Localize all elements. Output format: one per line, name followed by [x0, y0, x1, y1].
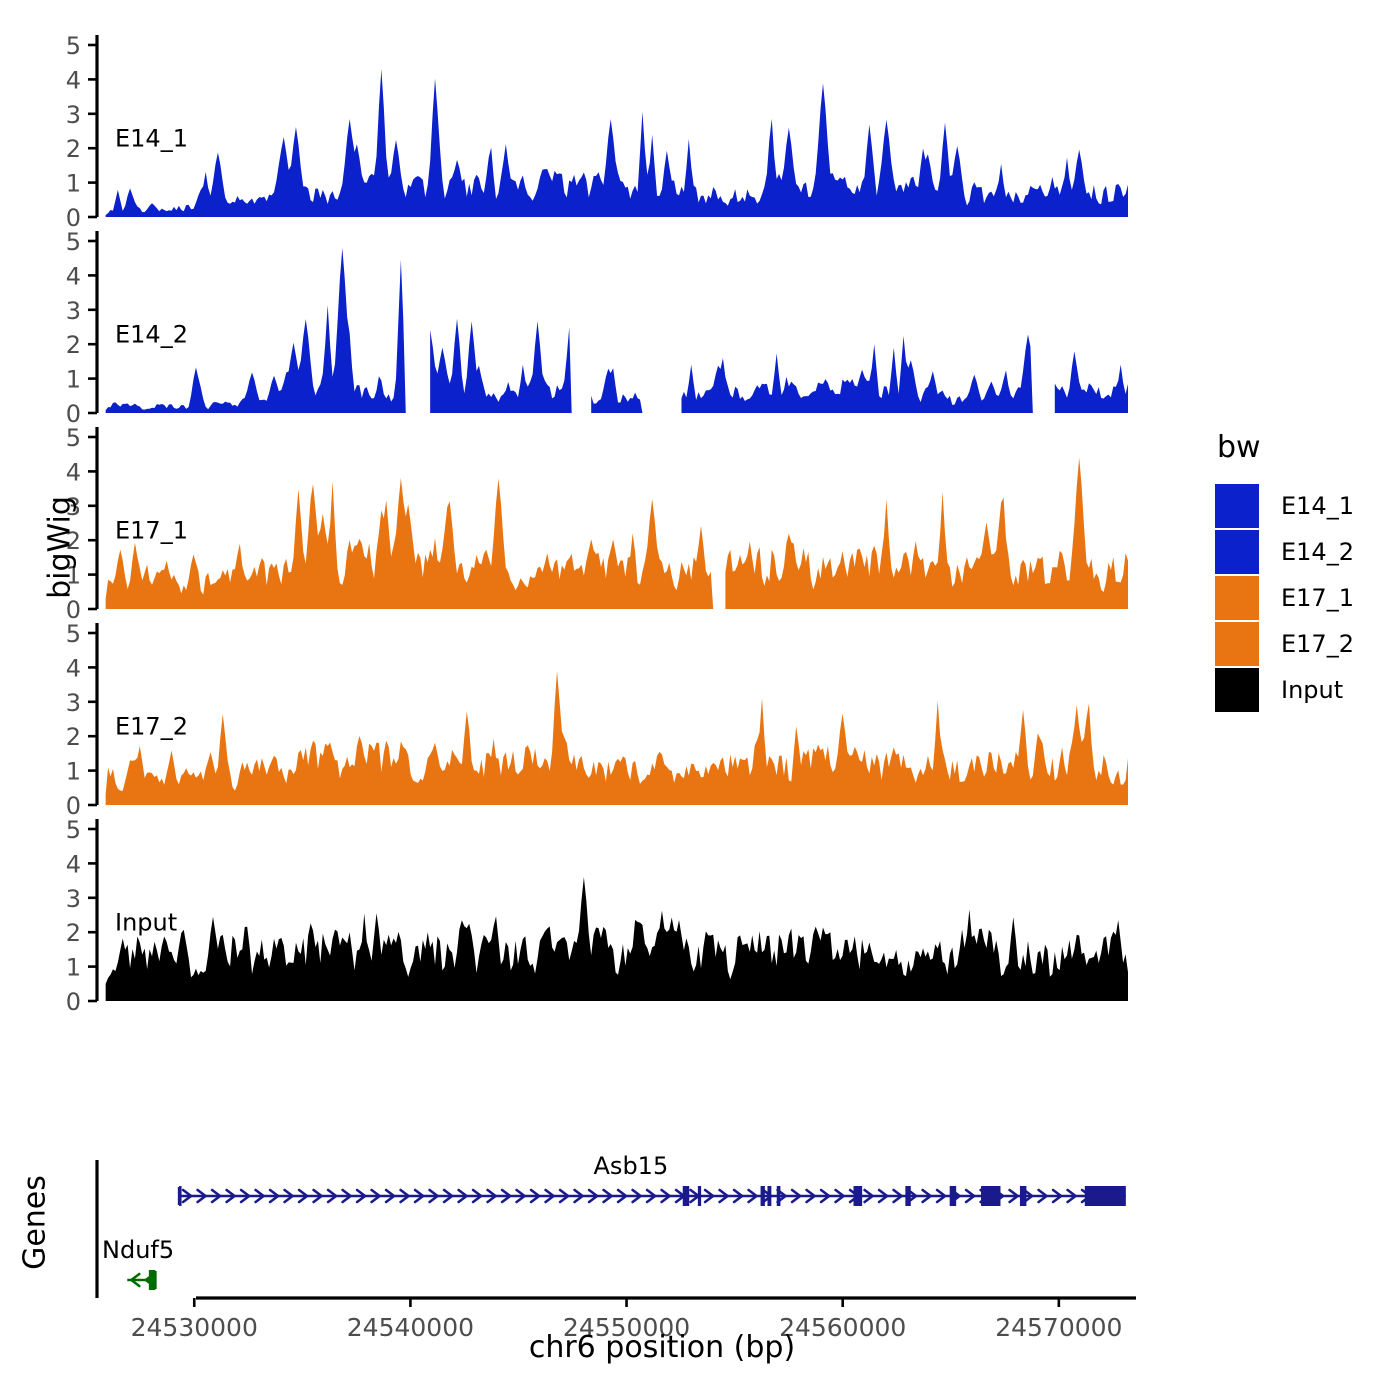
- y-tick-label: 5: [66, 816, 81, 844]
- exon-block: [683, 1186, 689, 1206]
- legend-swatch-e14_1: [1215, 484, 1259, 528]
- exon-block: [179, 1186, 181, 1206]
- panel-label-input: Input: [115, 909, 177, 937]
- panel-label-e17_1: E17_1: [115, 517, 188, 545]
- exon-block: [149, 1270, 155, 1290]
- y-tick-label: 2: [66, 135, 81, 163]
- legend-swatch-e14_2: [1215, 530, 1259, 574]
- y-axis-title-bigwig: bigWig: [43, 418, 78, 678]
- y-axis-title-genes: Genes: [18, 1153, 53, 1293]
- genes-panel: Asb15Nduf5: [97, 1152, 1126, 1298]
- track-plot-svg: 543210E14_1543210E14_2543210E17_1543210E…: [0, 0, 1400, 1400]
- legend-swatch-e17_1: [1215, 576, 1259, 620]
- legend-item-e17_2[interactable]: E17_2: [1215, 621, 1354, 667]
- y-tick-label: 5: [66, 228, 81, 256]
- gene-nduf5[interactable]: Nduf5: [102, 1236, 174, 1290]
- y-tick-label: 3: [66, 297, 81, 325]
- gene-label-asb15: Asb15: [594, 1152, 669, 1180]
- legend-items: E14_1E14_2E17_1E17_2Input: [1215, 483, 1354, 713]
- y-tick-label: 4: [66, 66, 81, 94]
- y-tick-label: 0: [66, 988, 81, 1016]
- y-tick-label: 3: [66, 101, 81, 129]
- y-tick-label: 1: [66, 954, 81, 982]
- legend-item-e17_1[interactable]: E17_1: [1215, 575, 1354, 621]
- exon-block: [1085, 1186, 1126, 1206]
- track-e17_2: 543210E17_2: [66, 620, 1128, 820]
- y-tick-label: 5: [66, 32, 81, 60]
- exon-block: [905, 1186, 910, 1206]
- track-area-input: [106, 877, 1128, 1001]
- y-tick-label: 4: [66, 850, 81, 878]
- y-tick-label: 4: [66, 262, 81, 290]
- legend-swatch-e17_2: [1215, 622, 1259, 666]
- exon-block: [767, 1186, 771, 1206]
- track-input: 543210Input: [66, 816, 1128, 1016]
- legend-item-input[interactable]: Input: [1215, 667, 1354, 713]
- legend-label: E14_1: [1281, 492, 1354, 520]
- exon-block: [698, 1186, 701, 1206]
- legend-title: bw: [1217, 430, 1354, 465]
- gene-asb15[interactable]: Asb15: [179, 1152, 1126, 1206]
- panel-label-e17_2: E17_2: [115, 713, 188, 741]
- legend-label: E14_2: [1281, 538, 1354, 566]
- x-axis-title: chr6 position (bp): [196, 1330, 1128, 1365]
- y-tick-label: 2: [66, 331, 81, 359]
- legend-swatch-input: [1215, 668, 1259, 712]
- y-tick-label: 2: [66, 723, 81, 751]
- legend-label: E17_1: [1281, 584, 1354, 612]
- track-area-e17_2: [106, 671, 1128, 805]
- exon-block: [853, 1186, 862, 1206]
- legend-label: E17_2: [1281, 630, 1354, 658]
- y-tick-label: 3: [66, 885, 81, 913]
- y-tick-label: 1: [66, 170, 81, 198]
- track-e14_1: 543210E14_1: [66, 32, 1128, 232]
- y-tick-label: 1: [66, 758, 81, 786]
- track-area-e14_1: [106, 69, 1128, 217]
- genome-browser-figure: 543210E14_1543210E14_2543210E17_1543210E…: [0, 0, 1400, 1400]
- track-area-e17_1: [106, 458, 1128, 609]
- legend-label: Input: [1281, 676, 1343, 704]
- exon-block: [981, 1186, 1000, 1206]
- y-tick-label: 2: [66, 919, 81, 947]
- legend-item-e14_2[interactable]: E14_2: [1215, 529, 1354, 575]
- track-e14_2: 543210E14_2: [66, 228, 1128, 428]
- track-area-e14_2: [106, 248, 1128, 413]
- track-e17_1: 543210E17_1: [66, 424, 1128, 624]
- panel-label-e14_1: E14_1: [115, 125, 188, 153]
- y-tick-label: 1: [66, 366, 81, 394]
- exon-block: [1020, 1186, 1026, 1206]
- exon-block: [777, 1186, 781, 1206]
- exon-block: [950, 1186, 956, 1206]
- exon-block: [761, 1186, 765, 1206]
- y-tick-label: 3: [66, 689, 81, 717]
- legend-item-e14_1[interactable]: E14_1: [1215, 483, 1354, 529]
- gene-label-nduf5: Nduf5: [102, 1236, 174, 1264]
- legend: bw E14_1E14_2E17_1E17_2Input: [1215, 430, 1354, 713]
- panel-label-e14_2: E14_2: [115, 321, 188, 349]
